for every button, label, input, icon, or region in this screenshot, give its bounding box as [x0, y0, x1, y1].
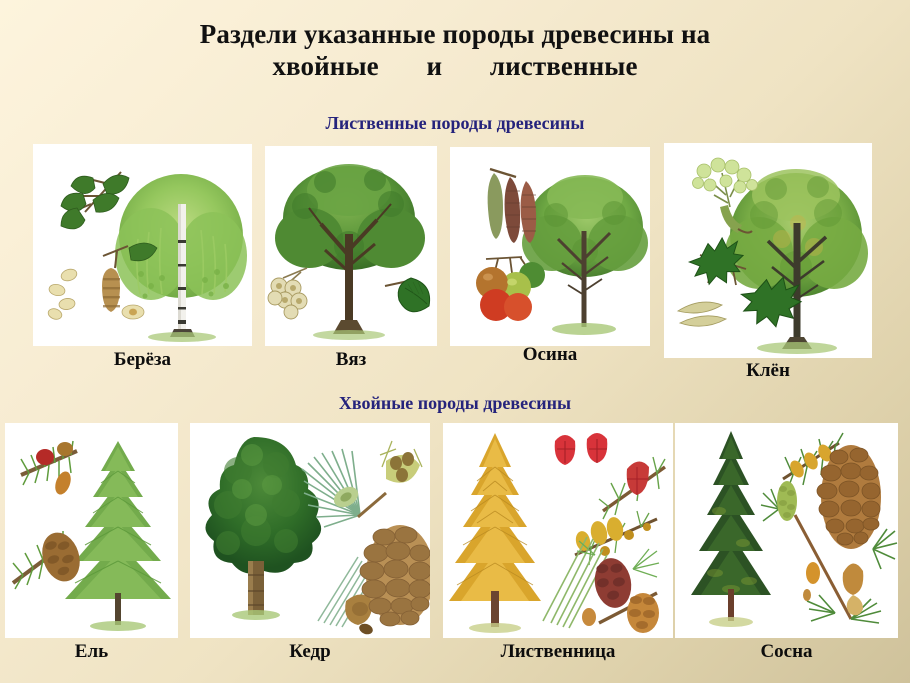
section-heading-coniferous: Хвойные породы древесины [0, 393, 910, 414]
tree-label-maple: Клён [664, 360, 872, 382]
tree-label-spruce: Ель [5, 641, 178, 663]
tree-label-aspen: Осина [450, 344, 650, 366]
tree-card-spruce[interactable] [5, 423, 178, 638]
tree-label-larch: Лиственница [443, 641, 673, 663]
tree-label-elm: Вяз [265, 349, 437, 371]
tree-card-aspen[interactable] [450, 147, 650, 346]
tree-card-elm[interactable] [265, 146, 437, 346]
larch-illustration [443, 423, 673, 638]
title-word-deciduous: лиственные [490, 51, 638, 81]
section-heading-deciduous: Лиственные породы древесины [0, 113, 910, 134]
pine-illustration [675, 423, 898, 638]
page-title: Раздели указанные породы древесины на хв… [0, 18, 910, 82]
tree-card-pine[interactable] [675, 423, 898, 638]
birch-illustration [33, 144, 252, 346]
title-line-2: хвойные и лиственные [0, 50, 910, 82]
tree-card-cedar[interactable] [190, 423, 430, 638]
spruce-illustration [5, 423, 178, 638]
title-line-1: Раздели указанные породы древесины на [200, 19, 710, 49]
tree-card-maple[interactable] [664, 143, 872, 358]
aspen-illustration [450, 147, 650, 346]
tree-card-birch[interactable] [33, 144, 252, 346]
tree-label-birch: Берёза [33, 349, 252, 371]
tree-label-pine: Сосна [675, 641, 898, 663]
tree-card-larch[interactable] [443, 423, 673, 638]
slide-root: Раздели указанные породы древесины на хв… [0, 0, 910, 683]
maple-illustration [664, 143, 872, 358]
title-word-coniferous: хвойные [272, 51, 378, 81]
elm-illustration [265, 146, 437, 346]
tree-label-cedar: Кедр [190, 641, 430, 663]
cedar-illustration [190, 423, 430, 638]
title-word-and: и [426, 51, 442, 81]
